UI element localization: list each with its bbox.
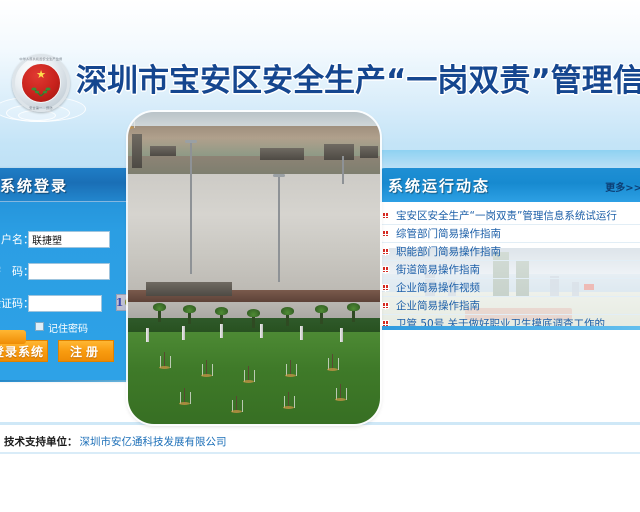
captcha-input[interactable]	[28, 295, 102, 312]
photo-sapling	[236, 396, 237, 412]
red-plus-square-icon	[382, 248, 389, 255]
remember-password-label: 记住密码	[48, 320, 88, 335]
gold-star-icon: ★	[36, 69, 46, 80]
list-item-label: 综管部门简易操作指南	[396, 228, 501, 240]
list-item[interactable]: 职能部门简易操作指南	[378, 243, 640, 261]
red-plus-square-icon	[382, 266, 389, 273]
header-arc-decor	[352, 150, 640, 170]
password-input[interactable]	[28, 263, 110, 280]
photo-light-pole-head	[273, 174, 285, 177]
photo-bollard-lamp	[260, 324, 263, 338]
list-item-label: 卫管 50号 关于做好职业卫生摸底调查工作的	[396, 318, 605, 326]
emblem-ring-top-text: 中华人民共和国安全生产监督	[12, 57, 70, 61]
list-item[interactable]: 企业简易操作指南	[378, 297, 640, 315]
news-panel-title: 系统运行动态	[388, 175, 490, 196]
red-plus-square-icon	[382, 320, 389, 326]
list-item-label: 街道简易操作指南	[396, 264, 480, 276]
footer-divider-bottom	[0, 452, 640, 454]
list-item-label: 宝安区安全生产“一岗双责”管理信息系统试运行	[396, 210, 617, 222]
photo-bollard-lamp	[182, 326, 185, 340]
red-plus-square-icon	[382, 212, 389, 219]
photo-palm-tree	[188, 310, 191, 324]
red-plus-square-icon	[382, 302, 389, 309]
news-list: 宝安区安全生产“一岗双责”管理信息系统试运行 综管部门简易操作指南 职能部门简易…	[368, 202, 640, 326]
photo-bollard-lamp	[300, 326, 303, 340]
photo-palm-tree	[286, 312, 289, 326]
photo-building	[150, 146, 176, 156]
photo-sapling	[184, 388, 185, 404]
emblem-inner-disc: ★	[21, 63, 61, 103]
page-title: 深圳市宝安区安全生产“一岗双责”管理信息系统	[76, 55, 640, 100]
footer-support-value: 深圳市安亿通科技发展有限公司	[80, 434, 227, 449]
news-panel-body: 宝安区安全生产“一岗双责”管理信息系统试运行 综管部门简易操作指南 职能部门简易…	[368, 202, 640, 326]
photo-bollard-lamp	[340, 328, 343, 342]
photo-sapling	[206, 360, 207, 376]
emblem-ring-bottom-text: 安全第一 · 预防	[12, 106, 70, 110]
red-plus-square-icon	[382, 284, 389, 291]
photo-light-pole-head	[185, 140, 197, 143]
photo-sapling	[128, 112, 129, 128]
page-root: 中华人民共和国安全生产监督 安全第一 · 预防 ★ 深圳市宝安区安全生产“一岗双…	[0, 0, 640, 512]
photo-building	[132, 134, 142, 168]
photo-sapling	[248, 366, 249, 382]
photo-sapling	[340, 384, 341, 400]
photo-light-pole	[342, 156, 344, 184]
photo-sapling	[332, 354, 333, 370]
plaza-aerial-photo	[128, 112, 380, 424]
news-more-link[interactable]: 更多>>	[605, 179, 640, 194]
footer: 技术支持单位： 深圳市安亿通科技发展有限公司	[0, 431, 640, 451]
red-plus-square-icon	[382, 230, 389, 237]
photo-sapling	[290, 360, 291, 376]
photo-palm-tree	[252, 314, 255, 328]
photo-light-pole	[278, 174, 280, 282]
photo-building	[324, 144, 354, 160]
photo-building	[146, 282, 232, 296]
photo-light-pole	[190, 140, 192, 274]
photo-bollard-lamp	[146, 328, 149, 342]
wheat-ears-icon	[28, 85, 54, 97]
register-button[interactable]: 注册	[58, 340, 114, 362]
national-emblem-icon: 中华人民共和国安全生产监督 安全第一 · 预防 ★	[12, 54, 70, 112]
remember-password-checkbox[interactable]	[35, 322, 44, 331]
photo-sapling	[164, 352, 165, 368]
list-item[interactable]: 卫管 50号 关于做好职业卫生摸底调查工作的	[378, 315, 640, 326]
photo-palm-tree	[352, 308, 355, 322]
list-item[interactable]: 企业简易操作视频	[378, 279, 640, 297]
photo-building	[360, 146, 378, 158]
list-item[interactable]: 宝安区安全生产“一岗双责”管理信息系统试运行	[378, 207, 640, 225]
photo-palm-tree	[320, 310, 323, 324]
photo-palm-tree	[158, 308, 161, 322]
list-item-label: 职能部门简易操作指南	[396, 246, 501, 258]
orange-accent-tab	[0, 330, 26, 344]
photo-plaza-pavement	[128, 174, 380, 290]
list-item-label: 企业简易操作指南	[396, 300, 480, 312]
left-white-strip	[0, 382, 22, 422]
login-panel-title: 系统登录	[0, 175, 68, 196]
list-item[interactable]: 综管部门简易操作指南	[378, 225, 640, 243]
news-panel-header: 系统运行动态 更多>>	[368, 168, 640, 202]
footer-support-label: 技术支持单位：	[4, 434, 78, 449]
list-item-label: 企业简易操作视频	[396, 282, 480, 294]
username-input[interactable]	[28, 231, 110, 248]
photo-sky-band	[128, 112, 380, 126]
photo-building	[260, 148, 304, 160]
photo-sapling	[288, 392, 289, 408]
news-panel: 系统运行动态 更多>> 宝安区安全生产“一岗双责”管理信息系统试运行	[368, 168, 640, 326]
photo-bollard-lamp	[220, 324, 223, 338]
list-item[interactable]: 街道简易操作指南	[378, 261, 640, 279]
